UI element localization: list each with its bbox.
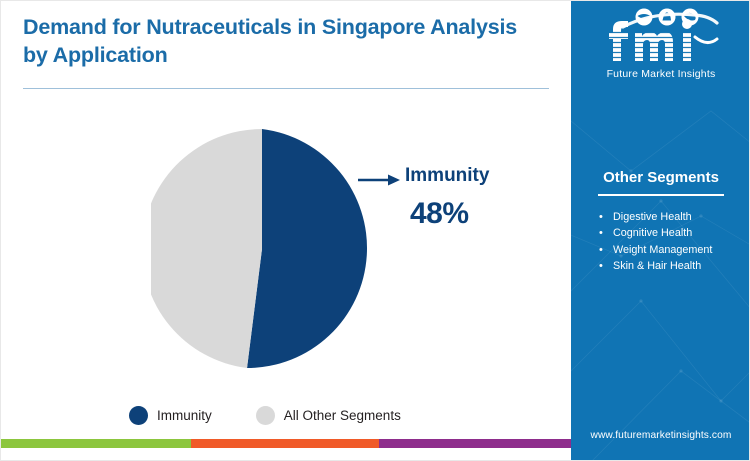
title-block: Demand for Nutraceuticals in Singapore A…	[23, 13, 543, 70]
list-item-label: Skin & Hair Health	[613, 260, 701, 272]
list-item[interactable]: • Cognitive Health	[599, 225, 750, 241]
chart-legend: Immunity All Other Segments	[129, 406, 401, 425]
pie-chart	[151, 129, 373, 369]
bullet-icon: •	[599, 258, 603, 275]
other-segments-list: • Digestive Health • Cognitive Health • …	[571, 209, 750, 275]
list-item-label: Cognitive Health	[613, 227, 692, 239]
bullet-icon: •	[599, 242, 603, 259]
list-item-label: Weight Management	[613, 244, 712, 256]
legend-label: All Other Segments	[284, 408, 401, 423]
pie-slice-all-other-segments[interactable]	[151, 129, 262, 368]
brand-logo[interactable]: Future Market Insights	[571, 7, 750, 80]
callout-label: Immunity	[405, 165, 489, 187]
legend-label: Immunity	[157, 408, 212, 423]
fmi-logo-icon	[599, 7, 723, 65]
bullet-icon: •	[599, 225, 603, 242]
other-segments-divider	[598, 194, 724, 196]
list-item[interactable]: • Skin & Hair Health	[599, 258, 750, 274]
pie-slice-immunity[interactable]	[247, 129, 367, 368]
other-segments-panel: Other Segments • Digestive Health • Cogn…	[571, 169, 750, 275]
arrow-right-icon	[358, 173, 402, 187]
legend-swatch-icon	[129, 406, 148, 425]
color-bar-segment-green	[1, 439, 191, 448]
bullet-icon: •	[599, 209, 603, 226]
brand-tagline: Future Market Insights	[571, 68, 750, 80]
footer-color-bar	[1, 439, 571, 448]
website-url-link[interactable]: www.futuremarketinsights.com	[591, 430, 732, 441]
pie-chart-svg	[151, 129, 373, 369]
list-item-label: Digestive Health	[613, 211, 692, 223]
other-segments-title: Other Segments	[571, 169, 750, 186]
color-bar-segment-orange	[191, 439, 379, 448]
legend-swatch-icon	[256, 406, 275, 425]
brand-sidebar: Future Market Insights Other Segments • …	[571, 1, 750, 461]
list-item[interactable]: • Weight Management	[599, 242, 750, 258]
sidebar-footer: www.futuremarketinsights.com	[571, 425, 750, 443]
page-title: Demand for Nutraceuticals in Singapore A…	[23, 13, 543, 70]
callout-value: 48%	[410, 197, 469, 231]
legend-item-immunity[interactable]: Immunity	[129, 406, 212, 425]
color-bar-segment-purple	[379, 439, 571, 448]
title-divider	[23, 88, 549, 89]
infographic-root: Demand for Nutraceuticals in Singapore A…	[0, 0, 750, 461]
list-item[interactable]: • Digestive Health	[599, 209, 750, 225]
legend-item-all-other-segments[interactable]: All Other Segments	[256, 406, 401, 425]
main-content-area: Demand for Nutraceuticals in Singapore A…	[1, 1, 571, 448]
